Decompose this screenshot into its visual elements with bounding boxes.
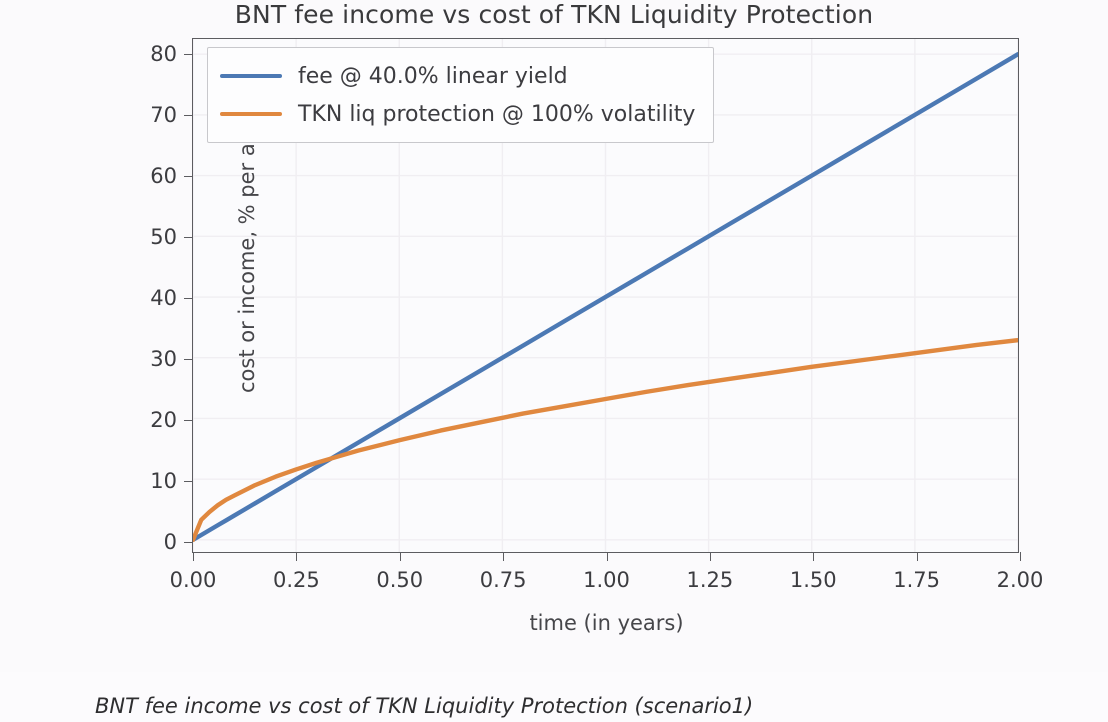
legend-label: TKN liq protection @ 100% volatility bbox=[298, 102, 695, 127]
figure-caption: BNT fee income vs cost of TKN Liquidity … bbox=[95, 694, 753, 718]
x-tick-mark bbox=[813, 552, 814, 561]
chart-title: BNT fee income vs cost of TKN Liquidity … bbox=[0, 0, 1108, 29]
x-tick-mark bbox=[296, 552, 297, 561]
chart-legend: fee @ 40.0% linear yieldTKN liq protecti… bbox=[207, 47, 714, 143]
screenshot-page: BNT fee income vs cost of TKN Liquidity … bbox=[0, 0, 1108, 722]
x-tick-mark bbox=[607, 552, 608, 561]
series-line-1 bbox=[193, 340, 1018, 540]
x-tick-mark bbox=[710, 552, 711, 561]
y-tick-mark bbox=[184, 176, 193, 177]
x-axis-label: time (in years) bbox=[193, 611, 1020, 635]
y-tick-mark bbox=[184, 359, 193, 360]
y-tick-mark bbox=[184, 420, 193, 421]
y-tick-mark bbox=[184, 54, 193, 55]
y-tick-mark bbox=[184, 542, 193, 543]
y-tick-mark bbox=[184, 298, 193, 299]
x-tick-mark bbox=[1020, 552, 1021, 561]
y-tick-mark bbox=[184, 237, 193, 238]
y-tick-mark bbox=[184, 115, 193, 116]
plot-area: cost or income, % per annum time (in yea… bbox=[192, 38, 1019, 553]
x-tick-mark bbox=[503, 552, 504, 561]
x-tick-mark bbox=[400, 552, 401, 561]
legend-color-swatch bbox=[220, 112, 282, 116]
legend-item: fee @ 40.0% linear yield bbox=[220, 57, 695, 95]
y-tick-mark bbox=[184, 481, 193, 482]
chart-figure: BNT fee income vs cost of TKN Liquidity … bbox=[0, 0, 1108, 672]
legend-item: TKN liq protection @ 100% volatility bbox=[220, 95, 695, 133]
x-tick-mark bbox=[917, 552, 918, 561]
legend-color-swatch bbox=[220, 74, 282, 78]
x-tick-mark bbox=[193, 552, 194, 561]
legend-label: fee @ 40.0% linear yield bbox=[298, 64, 568, 89]
